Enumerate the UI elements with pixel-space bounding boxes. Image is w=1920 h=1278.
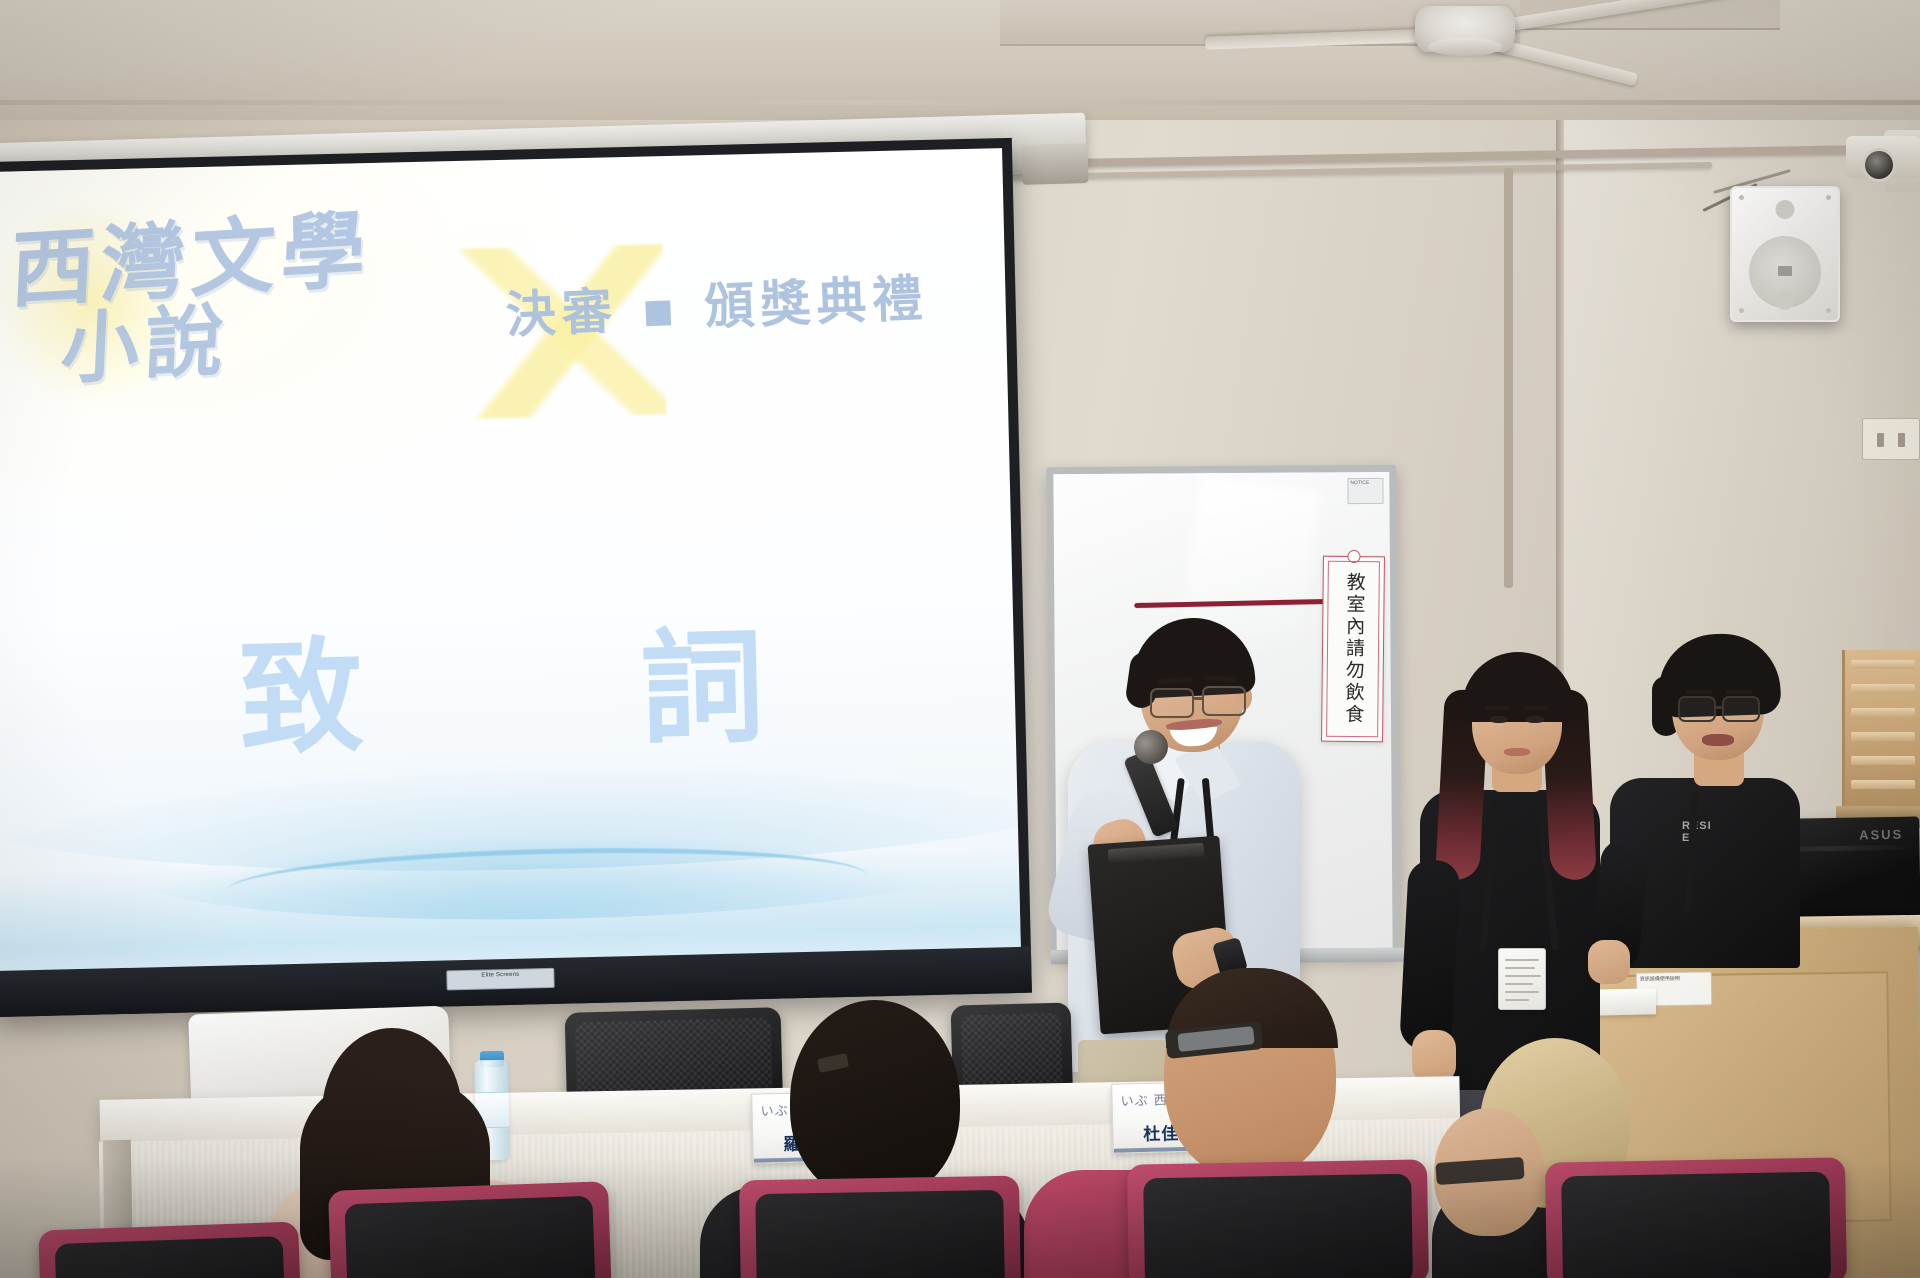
female-student-mouth (1504, 748, 1530, 756)
female-student-eye-left (1490, 716, 1508, 723)
slide-heading-char-right: 詞 (638, 586, 770, 769)
screen-model-label: Elite Screens (446, 968, 554, 991)
ceiling-trim-line (0, 100, 1920, 105)
slide-main-heading: 致 詞 (0, 580, 1016, 784)
audience-chair-pink-5[interactable] (38, 1221, 302, 1278)
glasses-bridge-male-student (1715, 706, 1724, 709)
glasses-icon-male-student-right (1722, 696, 1760, 722)
female-student-id-badge (1498, 948, 1546, 1010)
glasses-icon-right (1202, 686, 1246, 716)
projected-slide: 西灣文學 小說 決審 ▪ 頒獎典禮 致 詞 (0, 148, 1021, 972)
male-student-eyebrow-right (1726, 690, 1752, 694)
male-student-hand (1588, 940, 1630, 984)
speaker-tweeter-bottom (1776, 291, 1795, 310)
slide-logo-calligraphy: 西灣文學 小說 (5, 200, 484, 393)
audience-chair-pink-2[interactable] (739, 1176, 1021, 1278)
screen-frame: 西灣文學 小說 決審 ▪ 頒獎典禮 致 詞 Elite Screens (0, 138, 1032, 1017)
projector-screen-end-cap (1021, 143, 1088, 185)
female-student-eye-right (1526, 716, 1544, 723)
female-student-eyebrow-right (1524, 706, 1548, 710)
female-student-arm (1399, 859, 1461, 1051)
speaker-screw (1826, 195, 1831, 200)
female-student-eyebrow-left (1486, 706, 1510, 710)
wall-speaker (1730, 186, 1840, 322)
slide-heading-char-left: 致 (237, 595, 369, 778)
sign-inner-border: 教室內請勿飲食 (1326, 561, 1380, 738)
speaker-screw (1739, 195, 1744, 200)
classroom-photo-scene: 西灣文學 小說 決審 ▪ 頒獎典禮 致 詞 Elite Screens NOTI… (0, 0, 1920, 1278)
male-student-mouth (1702, 734, 1734, 746)
glasses-bridge (1193, 697, 1204, 700)
fan-ring (1428, 38, 1502, 56)
wood-cabinet (1842, 650, 1920, 810)
sign-text: 教室內請勿飲食 (1342, 572, 1364, 726)
audience-chair-pink[interactable] (328, 1181, 612, 1278)
audience-hair-2 (790, 1000, 960, 1200)
speaker-screw (1826, 308, 1831, 313)
glasses-icon-male-student (1678, 696, 1716, 722)
wall-pipe (1504, 168, 1513, 588)
no-food-drink-sign: 教室內請勿飲食 (1321, 556, 1385, 743)
camera-icon (1862, 148, 1896, 182)
wall-outlet (1862, 418, 1920, 460)
projection-screen[interactable]: 西灣文學 小說 決審 ▪ 頒獎典禮 致 詞 Elite Screens (0, 138, 1032, 1017)
audience-chair-pink-4[interactable] (1545, 1157, 1847, 1278)
speaker-tweeter-top (1776, 200, 1795, 219)
glasses-icon (1150, 688, 1194, 718)
whiteboard-corner-tag: NOTICE (1347, 478, 1383, 504)
monitor-brand-label: ASUS (1859, 827, 1903, 843)
male-student-eyebrow-left (1686, 690, 1712, 694)
audience-chair-pink-3[interactable] (1127, 1159, 1429, 1278)
speaker-screw (1739, 308, 1744, 313)
speaker-brand-icon (1778, 266, 1792, 276)
